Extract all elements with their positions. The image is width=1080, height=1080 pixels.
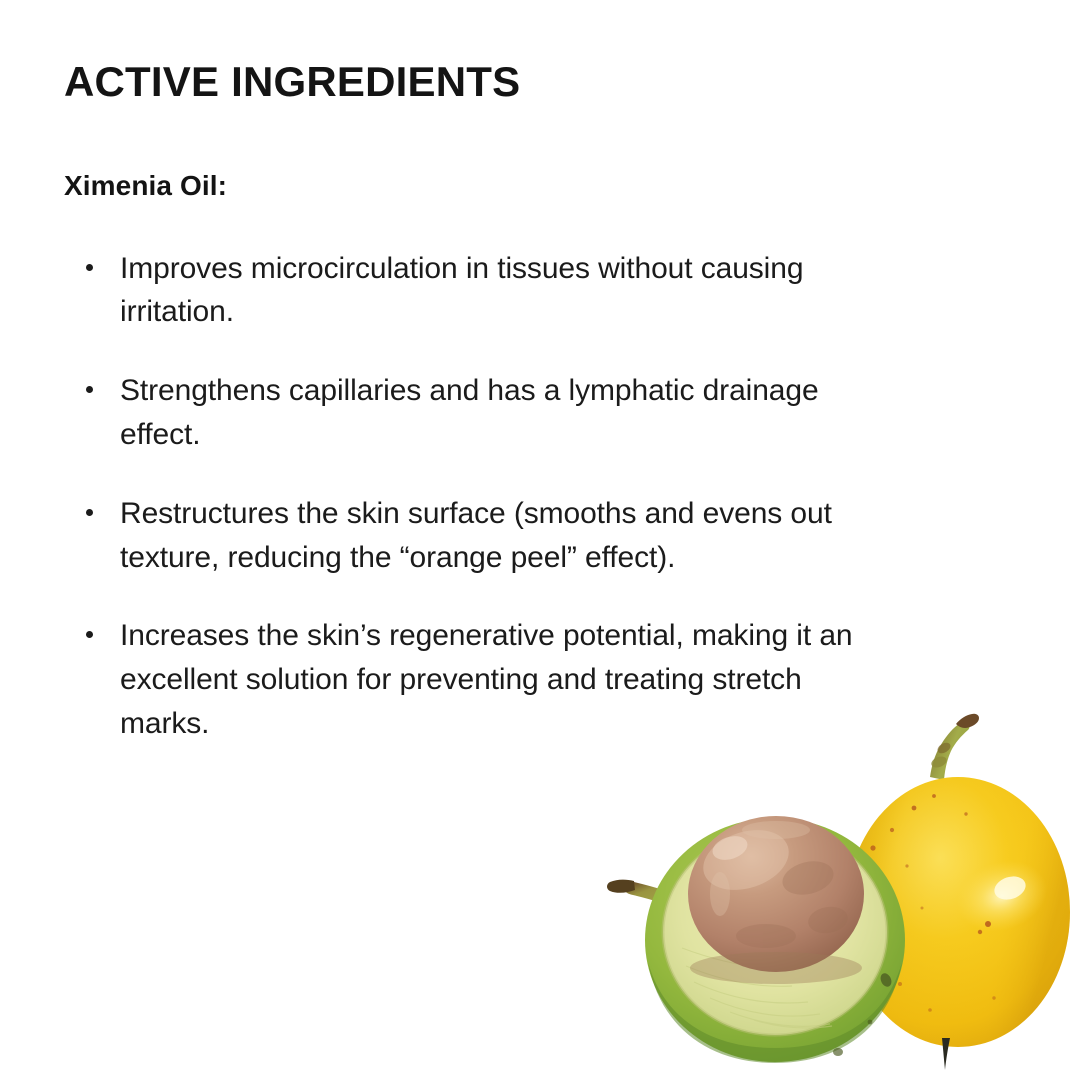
list-item-label: Restructures the skin surface (smooths a… — [120, 497, 832, 574]
bullet-dot-icon — [86, 264, 93, 271]
bullet-dot-icon — [86, 509, 93, 516]
page-title: ACTIVE INGREDIENTS — [64, 58, 854, 105]
ingredient-subheading: Ximenia Oil: — [64, 169, 854, 203]
slide-canvas: ACTIVE INGREDIENTS Ximenia Oil: Improves… — [0, 0, 1080, 1080]
benefits-list: Improves microcirculation in tissues wit… — [64, 247, 854, 746]
halved-green-fruit — [607, 816, 905, 1063]
bullet-dot-icon — [86, 631, 93, 638]
list-item: Improves microcirculation in tissues wit… — [64, 247, 854, 335]
content-text-block: ACTIVE INGREDIENTS Ximenia Oil: Improves… — [64, 58, 854, 746]
list-item: Increases the skin’s regenerative potent… — [64, 614, 854, 745]
list-item: Strengthens capillaries and has a lympha… — [64, 369, 854, 457]
list-item-label: Strengthens capillaries and has a lympha… — [120, 374, 819, 451]
list-item-label: Increases the skin’s regenerative potent… — [120, 619, 853, 740]
list-item: Restructures the skin surface (smooths a… — [64, 492, 854, 580]
bullet-dot-icon — [86, 386, 93, 393]
list-item-label: Improves microcirculation in tissues wit… — [120, 252, 803, 329]
